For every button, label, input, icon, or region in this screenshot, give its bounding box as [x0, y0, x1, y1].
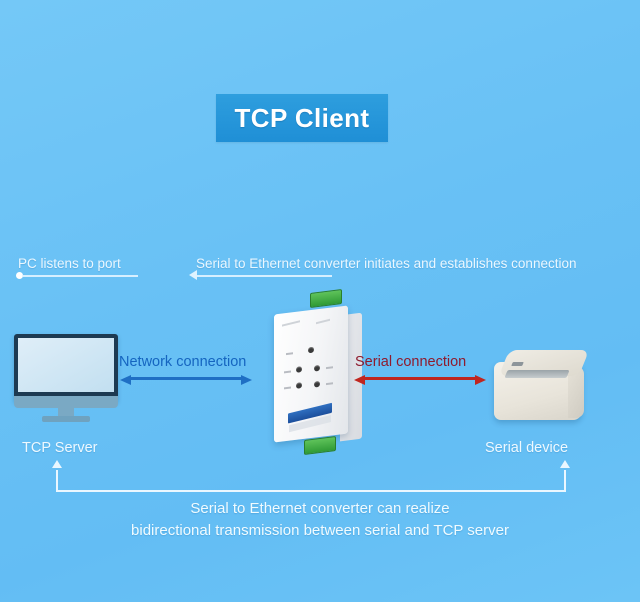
led-tick-act	[326, 366, 333, 368]
led-tx	[296, 382, 302, 389]
bracket-horizontal-bar	[56, 490, 566, 492]
printer-paper-slot	[504, 370, 569, 378]
caption-tcp-server: TCP Server	[22, 440, 97, 456]
monitor-bezel	[14, 334, 118, 402]
converter-top-marking-1	[282, 320, 300, 326]
arrow-serial-shaft	[363, 377, 477, 380]
annotation-right-line	[196, 275, 332, 277]
led-tick-rx	[326, 382, 333, 384]
monitor-screen	[18, 338, 114, 392]
led-act	[314, 365, 320, 372]
arrow-network-connection-icon	[120, 375, 252, 381]
led-power	[308, 347, 314, 354]
diagram-canvas: TCP Client PC listens to port Serial to …	[0, 0, 640, 602]
led-tick-power	[286, 352, 293, 354]
arrow-network-shaft	[129, 377, 243, 380]
bracket-right-stem	[564, 470, 566, 492]
led-tick-link	[284, 370, 291, 372]
title-badge-label: TCP Client	[235, 103, 370, 134]
label-serial-connection: Serial connection	[355, 354, 466, 370]
converter-front-face	[274, 305, 348, 442]
bracket-left-arrowhead-icon	[52, 460, 62, 468]
terminal-block-bottom	[304, 436, 336, 455]
annotation-pc-listens: PC listens to port	[18, 256, 121, 271]
monitor-base	[42, 416, 90, 422]
bottom-caption: Serial to Ethernet converter can realize…	[0, 498, 640, 542]
bracket-right-arrowhead-icon	[560, 460, 570, 468]
arrow-serial-head-right	[475, 375, 486, 385]
annotation-left-line	[22, 275, 138, 277]
serial-to-ethernet-converter	[266, 288, 372, 460]
label-network-connection: Network connection	[119, 354, 246, 370]
arrow-serial-connection-icon	[354, 375, 486, 381]
serial-device-printer	[490, 344, 592, 426]
title-badge: TCP Client	[216, 94, 388, 142]
printer-button	[511, 362, 524, 366]
led-link	[296, 366, 302, 373]
caption-serial-device: Serial device	[485, 440, 568, 456]
bottom-caption-line-1: Serial to Ethernet converter can realize	[0, 498, 640, 520]
tcp-server-monitor	[14, 334, 118, 422]
monitor-chin	[14, 396, 118, 408]
bracket-left-stem	[56, 470, 58, 492]
led-tick-tx	[284, 386, 291, 388]
annotation-converter-initiates: Serial to Ethernet converter initiates a…	[196, 256, 576, 271]
converter-top-marking-2	[316, 319, 330, 324]
arrow-network-head-right	[241, 375, 252, 385]
led-rx	[314, 381, 320, 388]
bottom-caption-line-2: bidirectional transmission between seria…	[0, 520, 640, 542]
bidirectional-bracket	[56, 466, 566, 492]
terminal-block-top	[310, 289, 342, 308]
